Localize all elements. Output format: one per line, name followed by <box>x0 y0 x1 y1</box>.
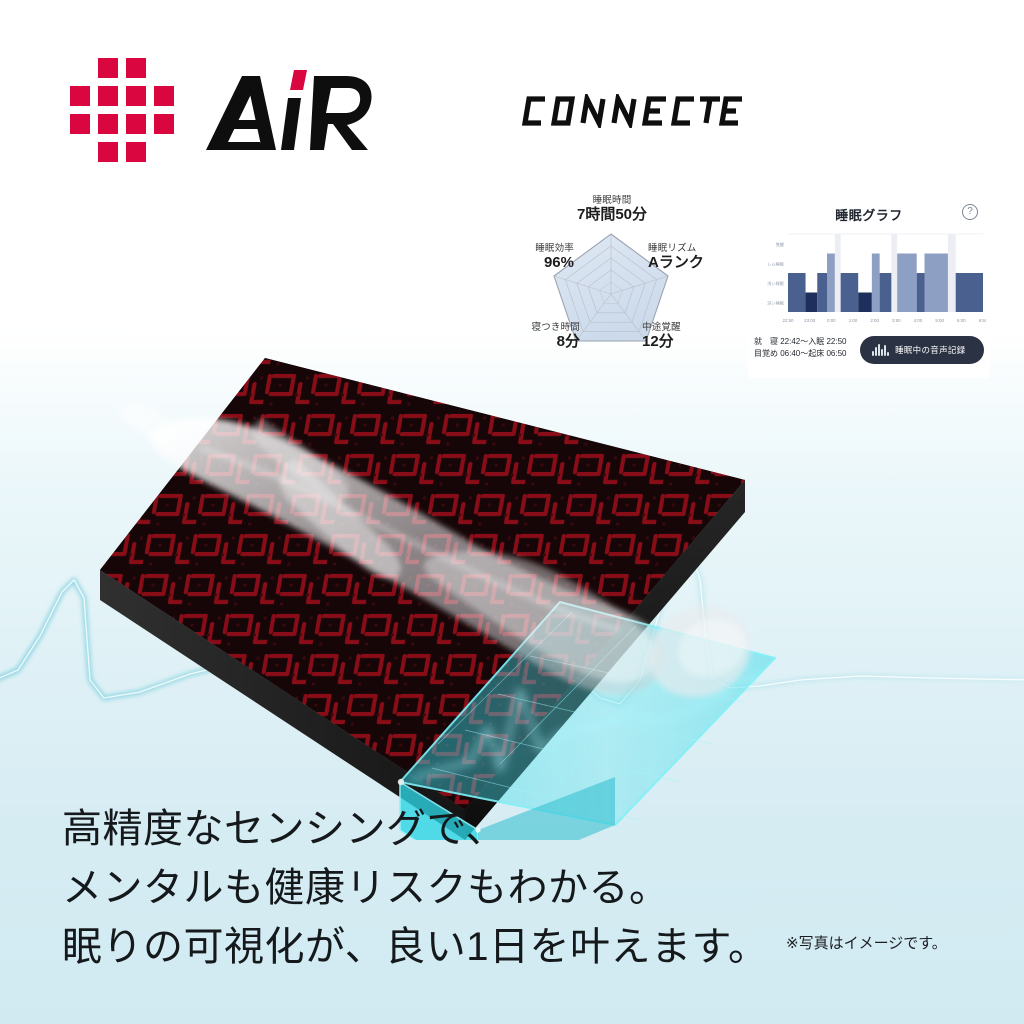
radar-label-sleep-time: 睡眠時間 7時間50分 <box>542 196 682 223</box>
chart-bar <box>827 254 835 313</box>
logo-connected-text <box>520 94 742 133</box>
logo-air-text <box>202 68 392 158</box>
chart-x-tick: 22:50 <box>783 318 795 323</box>
headline-line-1: 高精度なセンシングで、 <box>62 800 762 859</box>
logo-dot <box>98 86 118 106</box>
logo-dot <box>126 58 146 78</box>
chart-bar <box>817 273 827 312</box>
photo-disclaimer: ※写真はイメージです。 <box>786 932 947 953</box>
radar-label-sleep-efficiency: 睡眠効率 96% <box>478 244 574 271</box>
chart-y-tick: 深い睡眠 <box>767 299 785 306</box>
chart-x-tick: 6:00 <box>957 318 966 323</box>
chart-x-tick: 1:00 <box>849 318 858 323</box>
sleep-stage-bar-chart: 覚醒レム睡眠浅い睡眠深い睡眠 22:5023:000:001:002:003:0… <box>752 228 986 334</box>
chart-x-tick: 23:00 <box>804 318 816 323</box>
chart-bar <box>858 293 872 313</box>
audio-record-button[interactable]: 睡眠中の音声記録 <box>860 336 984 364</box>
logo-wordmark <box>202 68 392 158</box>
chart-y-tick: 浅い睡眠 <box>767 280 785 287</box>
chart-x-tick: 3:00 <box>892 318 901 323</box>
logo-dot <box>126 142 146 162</box>
headline-block: 高精度なセンシングで、 メンタルも健康リスクもわかる。 眠りの可視化が、良い1日… <box>62 800 762 978</box>
chart-x-tick: 6:50 <box>979 318 986 323</box>
chart-bar <box>880 273 892 312</box>
waveform-icon <box>872 344 889 356</box>
logo-dot <box>70 86 90 106</box>
logo-dot <box>126 114 146 134</box>
chart-awake-band <box>835 234 841 312</box>
chart-bar <box>897 254 917 313</box>
chart-bar <box>788 273 806 312</box>
chart-bar <box>956 273 983 312</box>
headline-line-3: 眠りの可視化が、良い1日を叶えます。 <box>62 918 762 977</box>
mattress-sensor-illustration <box>0 330 800 840</box>
chart-x-tick: 0:00 <box>827 318 836 323</box>
chart-bar <box>917 273 925 312</box>
logo-dot <box>154 86 174 106</box>
logo-dot <box>154 114 174 134</box>
chart-bar <box>841 273 859 312</box>
chart-y-axis-labels: 覚醒レム睡眠浅い睡眠深い睡眠 <box>767 241 785 307</box>
chart-awake-band <box>948 234 956 312</box>
chart-x-tick: 5:00 <box>935 318 944 323</box>
chart-awake-band <box>891 234 897 312</box>
logo-dot <box>126 86 146 106</box>
chart-bar <box>925 254 948 313</box>
grid-dots-logo-icon <box>70 58 174 170</box>
chart-x-tick: 2:00 <box>870 318 879 323</box>
chart-y-tick: レム睡眠 <box>767 260 784 267</box>
chart-bar <box>806 293 818 313</box>
question-mark-icon[interactable]: ? <box>962 204 978 220</box>
headline-line-2: メンタルも健康リスクもわかる。 <box>62 859 762 918</box>
logo-dot <box>98 142 118 162</box>
chart-bar <box>872 254 880 313</box>
logo-dot <box>70 114 90 134</box>
radar-label-sleep-rhythm: 睡眠リズム Aランク <box>648 244 744 271</box>
chart-y-tick: 覚醒 <box>776 241 785 248</box>
chart-x-axis-labels: 22:5023:000:001:002:003:004:005:006:006:… <box>783 318 987 323</box>
chart-x-tick: 4:00 <box>914 318 923 323</box>
chart-plot-area <box>788 234 983 312</box>
audio-record-label: 睡眠中の音声記録 <box>895 344 965 356</box>
logo-dot <box>98 114 118 134</box>
sleep-graph-title: 睡眠グラフ <box>748 205 990 224</box>
logo-dot <box>98 58 118 78</box>
